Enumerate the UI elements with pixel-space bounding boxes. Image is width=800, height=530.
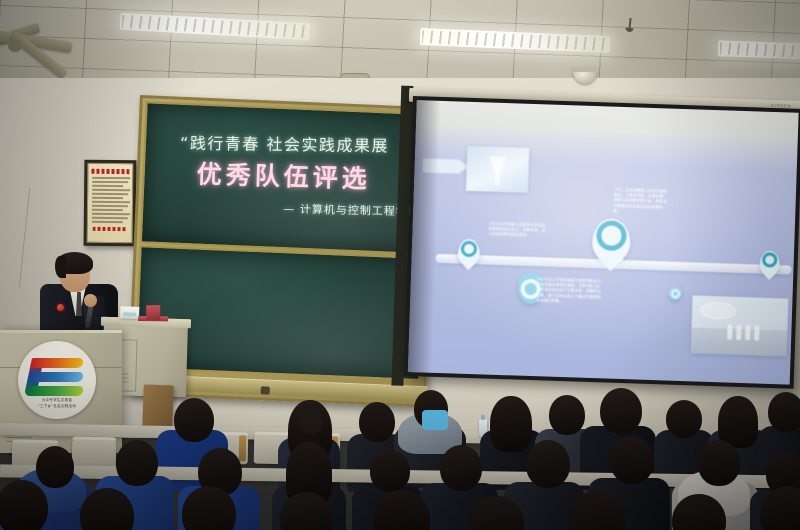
poster-inner bbox=[87, 163, 134, 243]
lapel-badge-icon bbox=[57, 304, 64, 311]
poster-text-line bbox=[92, 197, 123, 199]
san-xia-xiang-emblem: 大中专学生志愿者 “三下乡”社会实践活动 bbox=[18, 341, 96, 419]
blackboard-headline: “践行青春 社会实践成果展 bbox=[180, 130, 389, 157]
screen-border: 7月14日开两省人民政府大学生社会实践活动立足点，并组织出、深入民间田野村民访谈… bbox=[404, 96, 800, 389]
emblem-text-line-2: “三下乡”社会实践活动 bbox=[18, 404, 96, 409]
projector-glow bbox=[408, 100, 799, 385]
poster-footer-bar bbox=[93, 227, 127, 231]
tissue-box bbox=[120, 306, 139, 319]
poster-text-line bbox=[92, 217, 128, 219]
emblem-stripe-red bbox=[30, 358, 84, 368]
speaker-hair-side bbox=[55, 256, 66, 278]
speaker-hand bbox=[84, 294, 97, 307]
poster-text-line bbox=[92, 189, 130, 191]
screen-surface: 7月14日开两省人民政府大学生社会实践活动立足点，并组织出、深入民间田野村民访谈… bbox=[408, 100, 799, 385]
emblem-stripe-blue bbox=[28, 372, 84, 382]
blackboard-slide-knob[interactable] bbox=[261, 386, 270, 394]
poster-title-bar bbox=[91, 169, 129, 174]
blackboard-panel-upper: “践行青春 社会实践成果展 优秀队伍评选 — 计算机与控制工程学院 bbox=[140, 101, 432, 255]
poster-text-line bbox=[92, 205, 128, 207]
regulations-poster bbox=[84, 160, 137, 247]
red-folder bbox=[146, 305, 160, 320]
poster-text-line bbox=[92, 221, 123, 223]
poster-text-line bbox=[92, 181, 128, 183]
poster-text-line bbox=[92, 185, 123, 187]
blackboard-main-title: 优秀队伍评选 bbox=[196, 155, 371, 196]
projection-screen: SCREEN bbox=[404, 96, 800, 389]
poster-text-line bbox=[92, 177, 130, 179]
emblem-stripe-green bbox=[30, 386, 84, 396]
emblem-text-line-1: 大中专学生志愿者 bbox=[18, 398, 96, 403]
poster-text-line bbox=[92, 209, 123, 211]
poster-text-line bbox=[92, 213, 130, 215]
wooden-chair bbox=[142, 384, 174, 429]
lecture-hall-photo: “践行青春 社会实践成果展 优秀队伍评选 — 计算机与控制工程学院 SCREEN bbox=[0, 0, 800, 530]
poster-text-line bbox=[92, 201, 130, 203]
poster-text-line bbox=[92, 193, 128, 195]
